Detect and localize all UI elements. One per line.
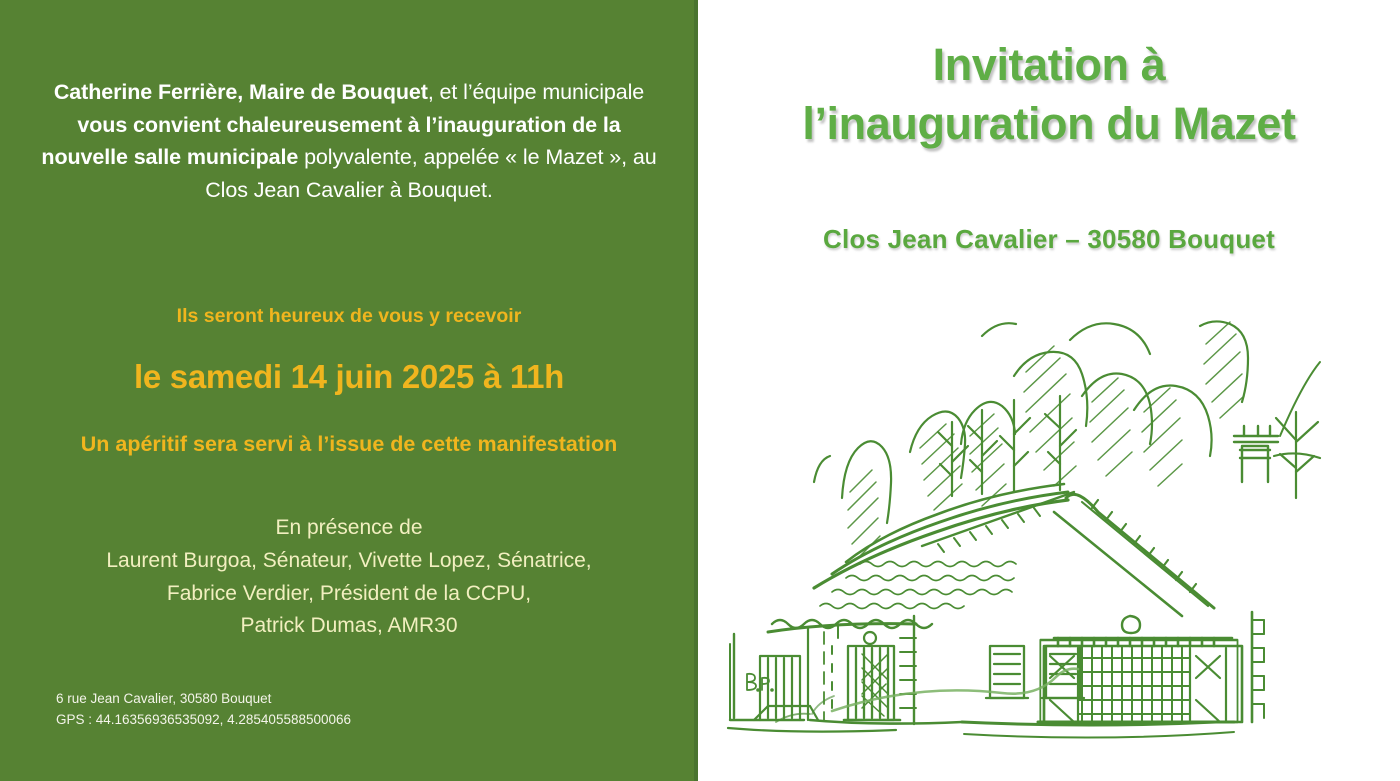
page-title-line-1: Invitation à bbox=[708, 36, 1390, 95]
mazet-house-sketch-icon bbox=[714, 316, 1400, 746]
invitation-card: Catherine Ferrière, Maire de Bouquet, et… bbox=[0, 0, 1400, 781]
venue-subtitle: Clos Jean Cavalier – 30580 Bouquet bbox=[708, 224, 1390, 255]
event-date: le samedi 14 juin 2025 à 11h bbox=[36, 356, 662, 397]
intro-paragraph: Catherine Ferrière, Maire de Bouquet, et… bbox=[36, 76, 662, 207]
footer-address: 6 rue Jean Cavalier, 30580 Bouquet bbox=[56, 689, 351, 710]
page-title: Invitation à l’inauguration du Mazet bbox=[708, 36, 1390, 153]
right-white-panel: Invitation à l’inauguration du Mazet Clo… bbox=[698, 0, 1400, 781]
aperitif-note: Un apéritif sera servi à l’issue de cett… bbox=[60, 427, 638, 462]
intro-segment-and-team: , et l’équipe municipale bbox=[428, 80, 644, 104]
guest-line-3: Patrick Dumas, AMR30 bbox=[36, 610, 662, 643]
page-title-line-2: l’inauguration du Mazet bbox=[708, 95, 1390, 154]
guest-line-2: Fabrice Verdier, Président de la CCPU, bbox=[36, 578, 662, 611]
lead-line: Ils seront heureux de vous y recevoir bbox=[36, 304, 662, 329]
footer-contact: 6 rue Jean Cavalier, 30580 Bouquet GPS :… bbox=[56, 689, 351, 731]
left-green-panel: Catherine Ferrière, Maire de Bouquet, et… bbox=[0, 0, 698, 781]
guests-heading: En présence de bbox=[36, 512, 662, 545]
footer-gps: GPS : 44.16356936535092, 4.2854055885000… bbox=[56, 710, 351, 731]
guest-line-1: Laurent Burgoa, Sénateur, Vivette Lopez,… bbox=[36, 545, 662, 578]
intro-segment-mayor: Catherine Ferrière, Maire de Bouquet bbox=[54, 80, 428, 104]
guests-block: En présence de Laurent Burgoa, Sénateur,… bbox=[36, 512, 662, 643]
